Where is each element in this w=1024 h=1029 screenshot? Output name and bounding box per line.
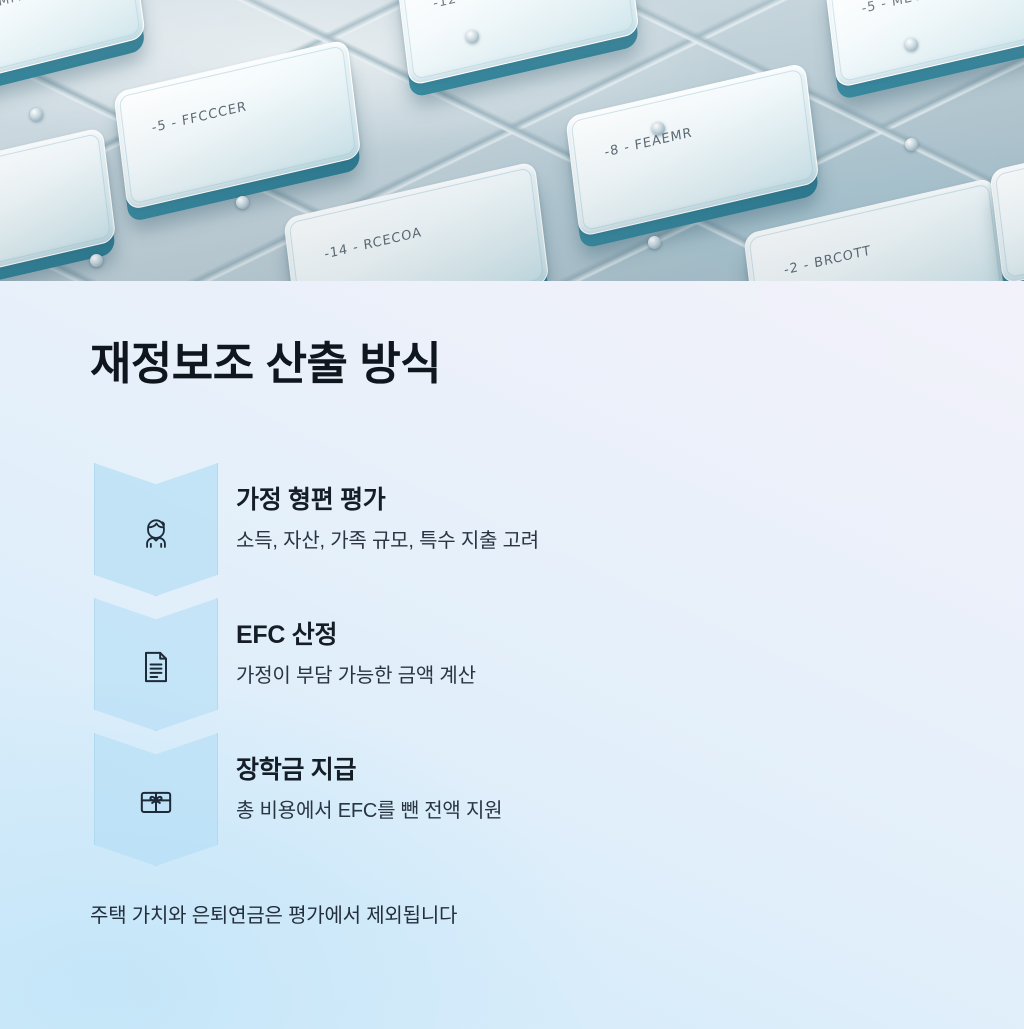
step-badge <box>94 733 218 866</box>
step-description: 총 비용에서 EFC를 뺀 전액 지원 <box>236 799 502 823</box>
step-item: 장학금 지급 총 비용에서 EFC를 뺀 전액 지원 <box>90 733 950 868</box>
step-title: EFC 산정 <box>236 622 476 650</box>
person-icon <box>136 512 176 552</box>
step-title: 가정 형편 평가 <box>236 487 539 515</box>
page-root: -3 - MMTM -12 - ETCCOT -5 - MECOR -5 - F… <box>0 0 1024 1029</box>
step-item: 가정 형편 평가 소득, 자산, 가족 규모, 특수 지출 고려 <box>90 463 950 598</box>
step-description: 소득, 자산, 가족 규모, 특수 지출 고려 <box>236 529 539 553</box>
step-text: 장학금 지급 총 비용에서 EFC를 뺀 전액 지원 <box>236 757 502 823</box>
steps-list: 가정 형편 평가 소득, 자산, 가족 규모, 특수 지출 고려 EFC 산정 … <box>90 463 950 868</box>
step-badge <box>94 463 218 596</box>
document-icon <box>136 647 176 687</box>
step-text: 가정 형편 평가 소득, 자산, 가족 규모, 특수 지출 고려 <box>236 487 539 553</box>
gift-icon <box>136 782 176 822</box>
step-badge <box>94 598 218 731</box>
step-item: EFC 산정 가정이 부담 가능한 금액 계산 <box>90 598 950 733</box>
step-title: 장학금 지급 <box>236 757 502 785</box>
step-description: 가정이 부담 가능한 금액 계산 <box>236 664 476 688</box>
page-title: 재정보조 산출 방식 <box>90 339 441 389</box>
hero-image: -3 - MMTM -12 - ETCCOT -5 - MECOR -5 - F… <box>0 0 1024 281</box>
step-text: EFC 산정 가정이 부담 가능한 금액 계산 <box>236 622 476 688</box>
footnote: 주택 가치와 은퇴연금은 평가에서 제외됩니다 <box>90 899 457 928</box>
content-panel: 재정보조 산출 방식 가정 형편 평가 <box>0 281 1024 1029</box>
hero-vignette <box>0 0 1024 281</box>
